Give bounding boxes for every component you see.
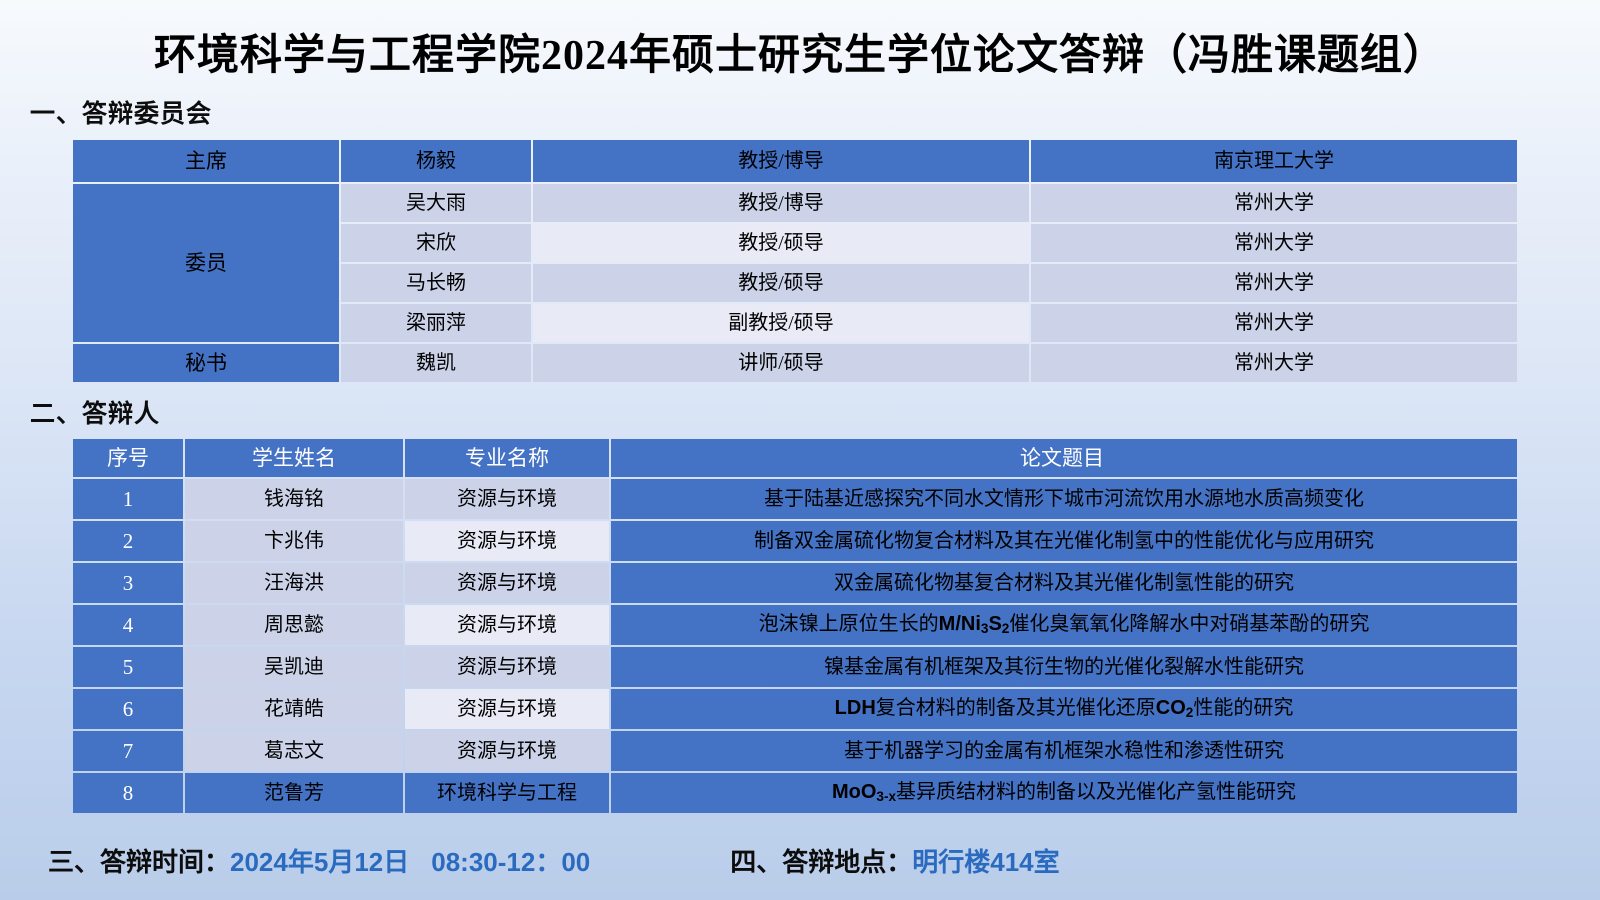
table-row: 1 钱海铭 资源与环境 基于陆基近感探究不同水文情形下城市河流饮用水源地水质高频… bbox=[73, 479, 1517, 519]
committee-rank: 教授/博导 bbox=[533, 140, 1029, 182]
column-header-topic: 论文题目 bbox=[611, 439, 1517, 477]
committee-rank: 讲师/硕导 bbox=[533, 344, 1029, 382]
table-row: 委员 吴大雨 教授/博导 常州大学 bbox=[73, 184, 1517, 222]
committee-name: 梁丽萍 bbox=[341, 304, 531, 342]
student-index: 2 bbox=[73, 521, 183, 561]
table-row: 4 周思懿 资源与环境 泡沫镍上原位生长的M/Ni3S2催化臭氧氧化降解水中对硝… bbox=[73, 605, 1517, 645]
student-major: 资源与环境 bbox=[405, 521, 609, 561]
student-index: 7 bbox=[73, 731, 183, 771]
committee-table: 主席 杨毅 教授/博导 南京理工大学 委员 吴大雨 教授/博导 常州大学 宋欣 … bbox=[71, 138, 1519, 384]
student-index: 3 bbox=[73, 563, 183, 603]
column-header-major: 专业名称 bbox=[405, 439, 609, 477]
committee-name: 吴大雨 bbox=[341, 184, 531, 222]
defense-place-label: 四、答辩地点： bbox=[730, 847, 912, 877]
student-name: 花靖皓 bbox=[185, 689, 403, 729]
committee-role-chair: 主席 bbox=[73, 140, 339, 182]
student-major: 资源与环境 bbox=[405, 605, 609, 645]
committee-name: 魏凯 bbox=[341, 344, 531, 382]
student-name: 汪海洪 bbox=[185, 563, 403, 603]
student-topic: 泡沫镍上原位生长的M/Ni3S2催化臭氧氧化降解水中对硝基苯酚的研究 bbox=[611, 605, 1517, 645]
student-major: 资源与环境 bbox=[405, 479, 609, 519]
student-major: 环境科学与工程 bbox=[405, 773, 609, 813]
student-name: 卞兆伟 bbox=[185, 521, 403, 561]
student-index: 6 bbox=[73, 689, 183, 729]
table-row: 3 汪海洪 资源与环境 双金属硫化物基复合材料及其光催化制氢性能的研究 bbox=[73, 563, 1517, 603]
table-row: 6 花靖皓 资源与环境 LDH复合材料的制备及其光催化还原CO2性能的研究 bbox=[73, 689, 1517, 729]
committee-rank: 副教授/硕导 bbox=[533, 304, 1029, 342]
student-index: 8 bbox=[73, 773, 183, 813]
student-topic: MoO3-x基异质结材料的制备以及光催化产氢性能研究 bbox=[611, 773, 1517, 813]
committee-rank: 教授/硕导 bbox=[533, 264, 1029, 302]
defense-place: 四、答辩地点：明行楼414室 bbox=[730, 842, 1059, 879]
defense-time-label: 三、答辩时间： bbox=[48, 847, 230, 877]
student-major: 资源与环境 bbox=[405, 563, 609, 603]
student-topic: 制备双金属硫化物复合材料及其在光催化制氢中的性能优化与应用研究 bbox=[611, 521, 1517, 561]
student-major: 资源与环境 bbox=[405, 689, 609, 729]
section-heading-committee: 一、答辩委员会 bbox=[30, 94, 1600, 130]
student-major: 资源与环境 bbox=[405, 731, 609, 771]
committee-role-secretary: 秘书 bbox=[73, 344, 339, 382]
table-row: 8 范鲁芳 环境科学与工程 MoO3-x基异质结材料的制备以及光催化产氢性能研究 bbox=[73, 773, 1517, 813]
student-name: 葛志文 bbox=[185, 731, 403, 771]
footer: 三、答辩时间：2024年5月12日08:30-12：00 四、答辩地点：明行楼4… bbox=[0, 830, 1600, 890]
student-index: 1 bbox=[73, 479, 183, 519]
student-name: 周思懿 bbox=[185, 605, 403, 645]
column-header-name: 学生姓名 bbox=[185, 439, 403, 477]
student-topic: 双金属硫化物基复合材料及其光催化制氢性能的研究 bbox=[611, 563, 1517, 603]
student-topic: LDH复合材料的制备及其光催化还原CO2性能的研究 bbox=[611, 689, 1517, 729]
table-row: 7 葛志文 资源与环境 基于机器学习的金属有机框架水稳性和渗透性研究 bbox=[73, 731, 1517, 771]
committee-school: 常州大学 bbox=[1031, 344, 1517, 382]
table-header-row: 序号 学生姓名 专业名称 论文题目 bbox=[73, 439, 1517, 477]
page-title: 环境科学与工程学院2024年硕士研究生学位论文答辩（冯胜课题组） bbox=[0, 0, 1600, 80]
committee-rank: 教授/硕导 bbox=[533, 224, 1029, 262]
section-heading-candidates: 二、答辩人 bbox=[30, 394, 1600, 430]
table-row: 秘书 魏凯 讲师/硕导 常州大学 bbox=[73, 344, 1517, 382]
student-name: 钱海铭 bbox=[185, 479, 403, 519]
defense-date-value: 2024年5月12日 bbox=[230, 847, 409, 877]
committee-school: 常州大学 bbox=[1031, 264, 1517, 302]
candidates-table: 序号 学生姓名 专业名称 论文题目 1 钱海铭 资源与环境 基于陆基近感探究不同… bbox=[71, 437, 1519, 815]
committee-school: 常州大学 bbox=[1031, 184, 1517, 222]
column-header-index: 序号 bbox=[73, 439, 183, 477]
student-index: 5 bbox=[73, 647, 183, 687]
committee-school: 常州大学 bbox=[1031, 304, 1517, 342]
table-row: 主席 杨毅 教授/博导 南京理工大学 bbox=[73, 140, 1517, 182]
committee-name: 宋欣 bbox=[341, 224, 531, 262]
student-major: 资源与环境 bbox=[405, 647, 609, 687]
student-topic: 镍基金属有机框架及其衍生物的光催化裂解水性能研究 bbox=[611, 647, 1517, 687]
committee-school: 南京理工大学 bbox=[1031, 140, 1517, 182]
defense-place-value: 明行楼414室 bbox=[912, 847, 1059, 877]
defense-time-range: 08:30-12：00 bbox=[431, 847, 590, 877]
committee-name: 马长畅 bbox=[341, 264, 531, 302]
student-index: 4 bbox=[73, 605, 183, 645]
table-row: 5 吴凯迪 资源与环境 镍基金属有机框架及其衍生物的光催化裂解水性能研究 bbox=[73, 647, 1517, 687]
defense-time: 三、答辩时间：2024年5月12日08:30-12：00 bbox=[48, 842, 590, 879]
student-topic: 基于机器学习的金属有机框架水稳性和渗透性研究 bbox=[611, 731, 1517, 771]
committee-school: 常州大学 bbox=[1031, 224, 1517, 262]
student-topic: 基于陆基近感探究不同水文情形下城市河流饮用水源地水质高频变化 bbox=[611, 479, 1517, 519]
committee-role-member: 委员 bbox=[73, 184, 339, 342]
table-row: 2 卞兆伟 资源与环境 制备双金属硫化物复合材料及其在光催化制氢中的性能优化与应… bbox=[73, 521, 1517, 561]
committee-name: 杨毅 bbox=[341, 140, 531, 182]
committee-rank: 教授/博导 bbox=[533, 184, 1029, 222]
student-name: 范鲁芳 bbox=[185, 773, 403, 813]
student-name: 吴凯迪 bbox=[185, 647, 403, 687]
